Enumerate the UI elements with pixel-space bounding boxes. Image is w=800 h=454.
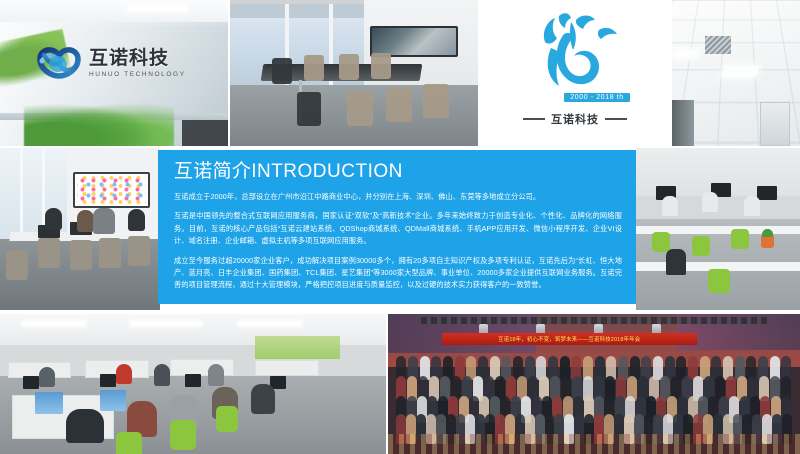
seated-person	[702, 192, 718, 212]
office-lobby-photo: 互诺科技 HUNUO TECHNOLOGY	[0, 0, 228, 146]
office-ceiling-photo	[672, 0, 800, 146]
cubicle-partition	[255, 360, 319, 376]
event-banner-text: 互诺18年，初心不变，筑梦未来——互诺科技2018年年会	[498, 335, 640, 343]
lobby-foreground-plant	[24, 98, 174, 146]
seated-person	[666, 249, 686, 275]
monitor	[23, 376, 39, 389]
cubicle-partition	[170, 359, 234, 376]
green-chair	[216, 406, 238, 432]
page-title: 互诺简介INTRODUCTION	[174, 162, 622, 181]
training-display-screen	[73, 172, 151, 208]
introduction-panel: 互诺简介INTRODUCTION 互诺成立于2000年，总部设立在广州市沿江中路…	[158, 150, 636, 304]
company-logo: 互诺科技 HUNUO TECHNOLOGY	[36, 40, 212, 86]
green-partition-wall	[255, 336, 340, 358]
title-english: INTRODUCTION	[251, 161, 403, 182]
meeting-chair	[371, 53, 391, 79]
intro-paragraph-2: 互诺是中国领先的整合式互联网应用服务商，国家认证“双软”及“高新技术”企业。多年…	[174, 210, 622, 247]
anniversary-emblem-block: 2000 - 2018 th 互诺科技	[480, 0, 670, 146]
seated-person	[744, 196, 760, 216]
training-chair	[70, 240, 92, 270]
air-conditioner	[760, 102, 790, 146]
monitor	[757, 186, 777, 200]
meeting-room-photo	[230, 0, 478, 146]
crowd	[396, 356, 792, 443]
ceiling-light	[131, 322, 200, 326]
introduction-inner: 互诺简介INTRODUCTION 互诺成立于2000年，总部设立在广州市沿江中路…	[158, 150, 636, 302]
company-profile-collage: 互诺科技 HUNUO TECHNOLOGY	[0, 0, 800, 454]
meeting-chair	[347, 92, 373, 126]
green-chair	[708, 269, 730, 293]
meeting-chair	[339, 54, 359, 80]
seated-person	[251, 384, 275, 414]
anniversary-emblem: 2000 - 2018 th 互诺科技	[480, 8, 670, 138]
logo-chinese-name: 互诺科技	[89, 49, 186, 68]
monitor	[100, 390, 126, 411]
anniversary-name-text: 互诺科技	[551, 111, 599, 127]
green-chair	[731, 229, 749, 249]
intro-paragraph-3: 成立至今服务过超20000家企业客户，成功解决项目案例30000多个，拥有20多…	[174, 255, 622, 292]
potted-plant	[761, 236, 774, 248]
ceiling-lamp	[721, 66, 759, 77]
anniversary-company-name: 互诺科技	[523, 111, 627, 127]
training-chair	[38, 238, 60, 268]
logo-english-name: HUNUO TECHNOLOGY	[89, 71, 186, 78]
training-room-photo	[0, 146, 160, 312]
standing-person	[39, 367, 55, 387]
meeting-window	[230, 4, 364, 97]
large-open-office-photo	[0, 314, 386, 454]
event-banner: 互诺18年，初心不变，筑梦未来——互诺科技2018年年会	[442, 333, 697, 345]
meeting-mullion	[329, 4, 333, 97]
standing-person	[208, 364, 224, 386]
divider	[0, 146, 800, 148]
ceiling-vent	[705, 36, 731, 54]
title-chinese: 互诺简介	[174, 161, 251, 182]
meeting-chair	[386, 88, 412, 122]
meeting-chair	[304, 55, 324, 81]
logo-text-block: 互诺科技 HUNUO TECHNOLOGY	[89, 49, 186, 78]
standing-person	[154, 364, 170, 386]
intro-paragraph-1: 互诺成立于2000年，总部设立在广州市沿江中路商业中心，并分别在上海、深圳、佛山…	[174, 191, 622, 203]
green-chair	[692, 236, 710, 256]
seated-person	[66, 409, 104, 443]
divider	[670, 0, 672, 146]
door-frame	[672, 100, 694, 146]
anniversary-year-badge: 2000 - 2018 th	[564, 93, 630, 102]
banquet-carpet	[388, 434, 800, 454]
ceiling-light	[23, 322, 85, 326]
training-chair	[6, 250, 28, 280]
divider	[228, 0, 230, 146]
open-office-photo	[636, 146, 800, 312]
meeting-chair	[423, 84, 449, 118]
divider	[478, 0, 480, 146]
lighting-truss	[421, 317, 767, 324]
ceiling-light	[239, 322, 301, 326]
monitor	[100, 374, 116, 387]
rule-left	[523, 118, 545, 120]
lobby-dark-corner	[182, 120, 228, 146]
annual-party-group-photo: 互诺18年，初心不变，筑梦未来——互诺科技2018年年会	[388, 314, 800, 454]
meeting-chair	[297, 92, 321, 126]
seated-person	[662, 196, 678, 216]
green-chair	[652, 232, 670, 252]
screen-content	[77, 176, 147, 204]
ceiling-lamp	[673, 50, 698, 58]
meeting-blind	[230, 4, 364, 18]
seated-person	[45, 208, 62, 230]
green-chair	[170, 420, 196, 450]
green-chair	[116, 432, 142, 454]
training-chair	[99, 238, 121, 268]
meeting-chair	[272, 58, 292, 84]
hunuo-infinity-logo-icon	[36, 43, 82, 83]
divider	[0, 310, 800, 314]
divider	[386, 314, 388, 454]
rule-right	[605, 118, 627, 120]
monitor	[185, 374, 201, 387]
training-chair	[128, 236, 150, 266]
seated-person	[93, 208, 115, 234]
seated-person	[128, 209, 145, 231]
monitor	[35, 392, 63, 414]
seated-person	[77, 210, 94, 232]
standing-person	[116, 364, 132, 384]
